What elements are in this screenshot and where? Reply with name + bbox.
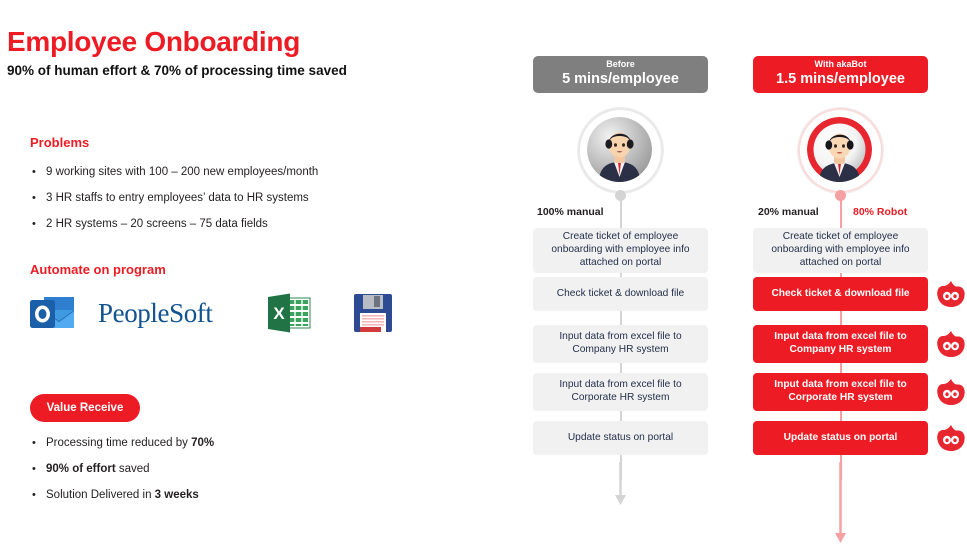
before-manual-label: 100% manual [537, 206, 604, 218]
svg-text:X: X [273, 304, 285, 323]
process-step-label: Input data from excel file to Corporate … [761, 379, 920, 405]
process-step[interactable]: Input data from excel file to Company HR… [533, 325, 708, 363]
after-ratio-row: 20% manual 80% Robot [740, 206, 955, 224]
bullet-icon: • [32, 437, 46, 450]
process-step[interactable]: Input data from excel file to Company HR… [753, 325, 928, 363]
process-step[interactable]: Create ticket of employee onboarding wit… [753, 228, 928, 273]
value-item-text: Solution Delivered in 3 weeks [46, 489, 199, 502]
bullet-icon: • [32, 166, 46, 179]
akabot-icon [936, 378, 966, 406]
process-step-label: Update status on portal [784, 432, 898, 445]
after-manual-label: 20% manual [758, 206, 819, 218]
employee-avatar [798, 108, 883, 193]
list-item: • 2 HR systems – 20 screens – 75 data fi… [32, 218, 318, 231]
slide-canvas: Employee Onboarding 90% of human effort … [0, 0, 967, 555]
problems-item-text: 9 working sites with 100 – 200 new emplo… [46, 166, 318, 179]
after-header-value: 1.5 mins/employee [776, 71, 905, 88]
process-step-label: Check ticket & download file [771, 288, 909, 301]
akabot-icon [936, 280, 966, 308]
process-step[interactable]: Update status on portal [753, 421, 928, 455]
before-header-value: 5 mins/employee [562, 71, 679, 88]
before-flow-arrow [520, 462, 735, 508]
peoplesoft-wordmark: PeopleSoft [98, 298, 213, 329]
before-header-title: Before [606, 60, 635, 70]
before-ratio-row: 100% manual [520, 206, 735, 224]
value-receive-badge: Value Receive [30, 394, 140, 422]
excel-icon: X [248, 286, 338, 340]
before-header: Before 5 mins/employee [533, 56, 708, 93]
list-item: • 90% of effort saved [32, 463, 214, 476]
bullet-icon: • [32, 489, 46, 502]
bullet-icon: • [32, 192, 46, 205]
problems-list: • 9 working sites with 100 – 200 new emp… [32, 166, 318, 245]
value-item-text: Processing time reduced by 70% [46, 437, 214, 450]
list-item: • 3 HR staffs to entry employees’ data t… [32, 192, 318, 205]
process-step[interactable]: Create ticket of employee onboarding wit… [533, 228, 708, 273]
process-step[interactable]: Update status on portal [533, 421, 708, 455]
problems-item-text: 2 HR systems – 20 screens – 75 data fiel… [46, 218, 268, 231]
floppy-disk-icon [338, 286, 412, 340]
outlook-icon [28, 286, 90, 340]
process-step[interactable]: Check ticket & download file [753, 277, 928, 311]
page-subtitle: 90% of human effort & 70% of processing … [7, 63, 347, 78]
akabot-icon [936, 424, 966, 452]
list-item: • 9 working sites with 100 – 200 new emp… [32, 166, 318, 179]
akabot-icon [936, 330, 966, 358]
process-step[interactable]: Check ticket & download file [533, 277, 708, 311]
avatar-face [587, 117, 652, 182]
problems-heading: Problems [30, 135, 89, 150]
list-item: • Solution Delivered in 3 weeks [32, 489, 214, 502]
avatar-face [807, 117, 872, 182]
peoplesoft-logo: PeopleSoft [90, 286, 248, 340]
bullet-icon: • [32, 463, 46, 476]
value-item-text: 90% of effort saved [46, 463, 150, 476]
automate-logo-row: PeopleSoft X [28, 286, 412, 340]
list-item: • Processing time reduced by 70% [32, 437, 214, 450]
automate-heading: Automate on program [30, 262, 166, 277]
process-step[interactable]: Input data from excel file to Corporate … [753, 373, 928, 411]
after-header-title: With akaBot [815, 60, 867, 70]
employee-avatar [578, 108, 663, 193]
after-robot-label: 80% Robot [853, 206, 907, 218]
process-step[interactable]: Input data from excel file to Corporate … [533, 373, 708, 411]
after-flow-arrow [740, 462, 955, 552]
after-steps: Create ticket of employee onboarding wit… [753, 228, 928, 455]
bullet-icon: • [32, 218, 46, 231]
before-steps: Create ticket of employee onboarding wit… [533, 228, 708, 455]
value-list: • Processing time reduced by 70% • 90% o… [32, 437, 214, 516]
after-header: With akaBot 1.5 mins/employee [753, 56, 928, 93]
problems-item-text: 3 HR staffs to entry employees’ data to … [46, 192, 309, 205]
page-title: Employee Onboarding [7, 26, 300, 58]
process-step-label: Input data from excel file to Company HR… [761, 331, 920, 357]
